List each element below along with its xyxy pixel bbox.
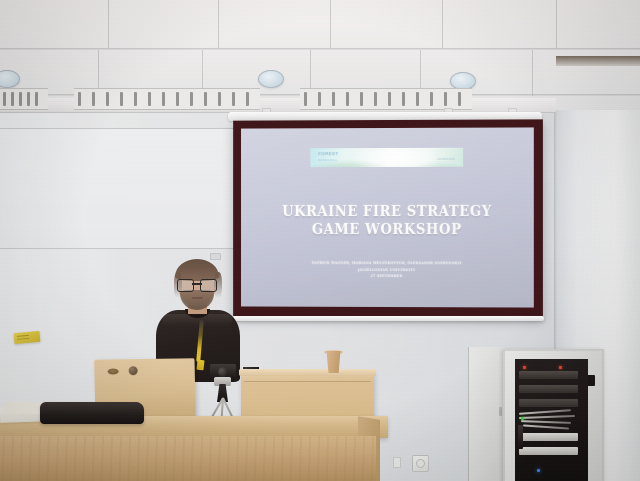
lectern-cable-hole [108, 368, 119, 374]
wall-data-port [393, 457, 401, 468]
glasses-bridge [192, 283, 202, 285]
rack-cable [519, 409, 571, 415]
slide-subtitle: PATRICK WAGNER, MARIANA MELNYKOVYCH, OLE… [253, 260, 522, 279]
slide-title-line2: GAME WORKSHOP [258, 221, 516, 239]
whiteboard-panel [0, 129, 236, 248]
server-rack-cabinet [503, 349, 604, 481]
podium-top-lip [239, 369, 376, 376]
ceiling-shadow-right [556, 56, 640, 66]
projected-slide: FOREST RESEARCH LANDSCAPE UKRAINE FIRE S… [241, 127, 534, 307]
rack-unit-patch-panel [519, 447, 577, 455]
rack-unit [519, 371, 577, 379]
rack-glass-door [515, 359, 588, 481]
banner-brand-sub: RESEARCH [318, 158, 338, 163]
projection-screen-weight-bar [232, 316, 544, 321]
banner-corner-text: LANDSCAPE [437, 157, 455, 161]
ceiling-tile [0, 0, 109, 48]
ceiling-tile [442, 0, 557, 48]
rack-status-led-red-icon [523, 366, 526, 369]
rack-status-led-blue-icon [537, 469, 540, 472]
banner-overexposure-glow [350, 147, 444, 167]
rack-unit-patch-panel [519, 433, 577, 441]
ceiling-vent-grille [0, 88, 48, 110]
wall-power-socket [412, 455, 429, 472]
ceiling-vent-grille [74, 88, 260, 110]
ceiling-downlight-icon [258, 70, 284, 88]
lectern-knob [129, 366, 138, 375]
wall-panel-seam-lower [0, 248, 238, 249]
podium-seam [244, 381, 371, 382]
lecture-room-photo: FOREST RESEARCH LANDSCAPE UKRAINE FIRE S… [0, 0, 640, 481]
rack-cable [521, 420, 571, 424]
slide-banner-image: FOREST RESEARCH LANDSCAPE [311, 147, 463, 167]
ceiling-tile [108, 0, 219, 48]
camera-body [210, 364, 236, 378]
projection-screen: FOREST RESEARCH LANDSCAPE UKRAINE FIRE S… [233, 119, 543, 318]
banner-brand-text: FOREST RESEARCH [318, 151, 338, 162]
whiteboard-clip [210, 253, 221, 260]
presenter-beard [180, 290, 214, 310]
presenter-mouth [192, 297, 203, 299]
slide-date: 27 SEPTEMBER [253, 273, 522, 280]
utility-door [468, 347, 507, 481]
slide-title: UKRAINE FIRE STRATEGY GAME WORKSHOP [258, 203, 516, 239]
ceiling-tile [218, 0, 331, 48]
sticky-note [14, 331, 41, 344]
slide-title-line1: UKRAINE FIRE STRATEGY [282, 202, 492, 220]
glasses-lens-left [177, 279, 194, 292]
wall-panel-seam-upper [0, 128, 236, 129]
banner-brand: FOREST [318, 151, 338, 156]
glasses-lens-right [200, 279, 217, 292]
rack-status-led-green-icon [521, 417, 524, 420]
ceiling-tile [330, 0, 443, 48]
camera-lens-icon [218, 367, 228, 377]
rack-unit [519, 385, 577, 393]
laptop-bag [40, 402, 144, 424]
rack-cable [519, 415, 575, 419]
rack-cable [523, 424, 569, 429]
rack-door-handle [518, 425, 523, 449]
glasses-icon [177, 279, 217, 290]
desk-wood-grain [0, 436, 376, 481]
ceiling-vent-grille [300, 88, 472, 110]
rack-status-led-red-icon [559, 366, 562, 369]
rack-unit [519, 399, 577, 407]
